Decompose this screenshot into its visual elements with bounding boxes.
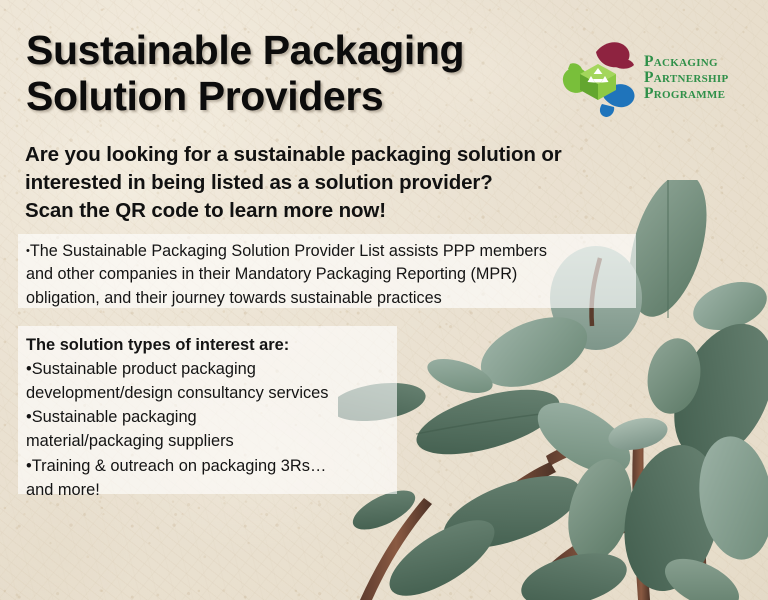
title-line-1: Sustainable Packaging bbox=[26, 28, 566, 74]
list-item: •Sustainable packaging bbox=[26, 405, 406, 429]
subtitle-line-3: Scan the QR code to learn more now! bbox=[25, 197, 665, 225]
paragraph-line-2: and other companies in their Mandatory P… bbox=[26, 263, 626, 286]
logo-line-2: Partnership bbox=[644, 70, 729, 86]
subtitle-line-2: interested in being listed as a solution… bbox=[25, 169, 665, 197]
logo-line-1: Packaging bbox=[644, 54, 729, 70]
list-item: development/design consultancy services bbox=[26, 381, 406, 405]
list-item: material/packaging suppliers bbox=[26, 429, 406, 453]
list-item: and more! bbox=[26, 478, 406, 502]
list-item: •Training & outreach on packaging 3Rs… bbox=[26, 454, 406, 478]
paragraph-line-1-text: The Sustainable Packaging Solution Provi… bbox=[30, 242, 547, 260]
description-paragraph: •The Sustainable Packaging Solution Prov… bbox=[26, 240, 626, 310]
subtitle-block: Are you looking for a sustainable packag… bbox=[25, 141, 665, 225]
logo-wordmark: Packaging Partnership Programme bbox=[644, 54, 729, 102]
page-title: Sustainable Packaging Solution Providers bbox=[26, 28, 566, 120]
subtitle-line-1: Are you looking for a sustainable packag… bbox=[25, 141, 665, 169]
title-line-2: Solution Providers bbox=[26, 74, 566, 120]
paragraph-line-3: obligation, and their journey towards su… bbox=[26, 287, 626, 310]
list-item: •Sustainable product packaging bbox=[26, 357, 406, 381]
solution-types-list: The solution types of interest are: •Sus… bbox=[26, 333, 406, 502]
paragraph-line-1: •The Sustainable Packaging Solution Prov… bbox=[26, 240, 626, 263]
logo-line-3: Programme bbox=[644, 86, 729, 102]
poster-canvas: Sustainable Packaging Solution Providers bbox=[0, 0, 768, 600]
list-heading: The solution types of interest are: bbox=[26, 333, 406, 357]
recycling-hands-logo-icon bbox=[560, 38, 638, 118]
ppp-logo: Packaging Partnership Programme bbox=[560, 36, 760, 120]
